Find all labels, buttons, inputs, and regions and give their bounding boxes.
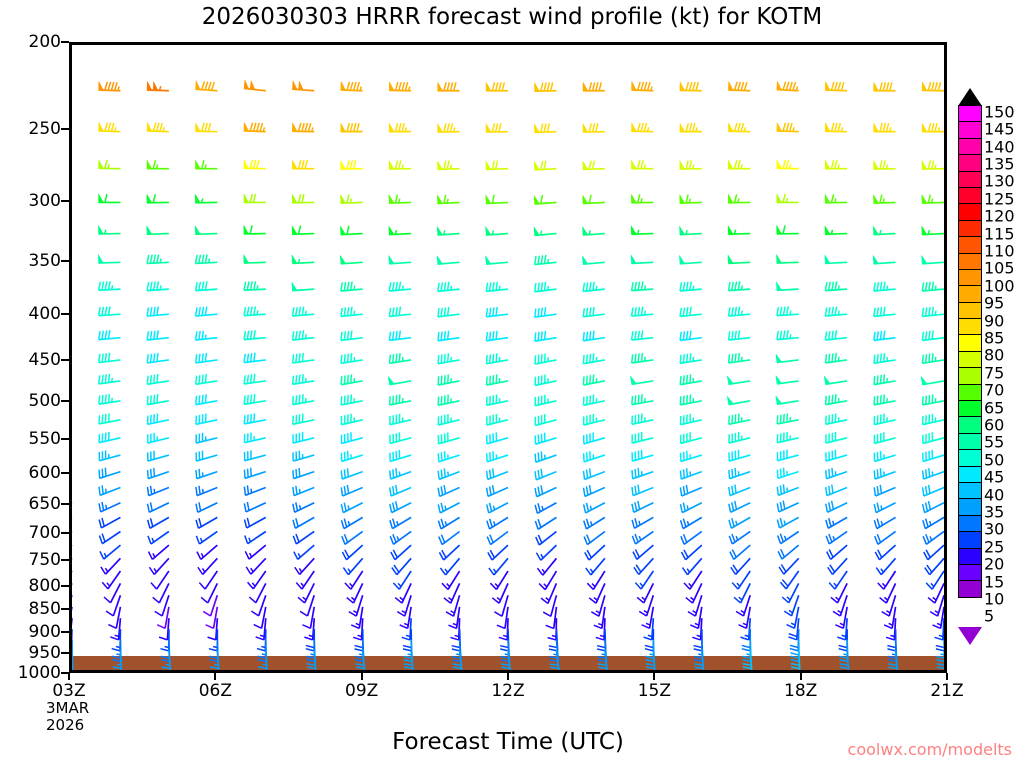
- wind-barb: [825, 255, 847, 263]
- colorbar-swatch: [958, 564, 982, 581]
- colorbar-swatch: [958, 482, 982, 499]
- wind-barb: [876, 558, 895, 574]
- colorbar-tick-label: 125: [984, 189, 1015, 208]
- wind-barb: [690, 607, 701, 629]
- wind-barb: [438, 503, 459, 513]
- x-axis-tick-label: 21Z: [930, 681, 963, 701]
- wind-barb: [148, 433, 169, 443]
- wind-barb: [389, 307, 411, 317]
- colorbar-swatch: [958, 449, 982, 466]
- wind-barb: [245, 450, 266, 460]
- wind-barb: [489, 558, 508, 575]
- wind-barb: [826, 485, 847, 496]
- wind-barb: [826, 394, 848, 404]
- wind-barb: [923, 531, 944, 544]
- y-axis-tick-label: 700: [29, 523, 61, 543]
- wind-barb: [875, 545, 895, 560]
- wind-barb: [874, 451, 895, 462]
- wind-barb: [390, 531, 411, 544]
- x-axis-tick-mark: [361, 673, 363, 680]
- wind-barb: [922, 282, 944, 291]
- wind-barb: [880, 583, 896, 603]
- colorbar-swatch: [958, 236, 982, 253]
- wind-barb: [438, 468, 459, 479]
- wind-barb: [874, 331, 896, 341]
- wind-barb: [738, 607, 750, 628]
- wind-barb: [728, 82, 750, 91]
- x-axis-tick-label: 18Z: [784, 681, 817, 701]
- wind-barb: [586, 558, 605, 575]
- y-axis-tick-label: 1000: [18, 663, 61, 683]
- wind-barb: [682, 545, 702, 560]
- wind-barb: [728, 123, 750, 132]
- wind-barb: [777, 81, 799, 91]
- wind-barb: [583, 353, 605, 363]
- x-axis-tick-label: 15Z: [638, 681, 671, 701]
- colorbar-swatch: [958, 367, 982, 384]
- y-axis-tick-label: 550: [29, 429, 61, 449]
- wind-barb: [438, 331, 460, 341]
- wind-barb: [246, 558, 266, 574]
- wind-barb: [728, 194, 750, 203]
- x-axis-tick-mark: [946, 673, 948, 680]
- wind-barb: [729, 450, 750, 461]
- wind-barb: [874, 307, 896, 317]
- wind-barb: [825, 281, 847, 290]
- colorbar-swatch: [958, 302, 982, 319]
- y-axis-tick-label: 900: [29, 622, 61, 642]
- wind-barb: [777, 413, 798, 424]
- colorbar-tick-label: 25: [984, 537, 1004, 556]
- wind-barb: [728, 281, 750, 290]
- wind-barb: [873, 195, 895, 204]
- wind-barb: [196, 414, 217, 425]
- wind-barb: [196, 307, 218, 316]
- wind-barb: [486, 282, 508, 292]
- wind-barb: [680, 394, 701, 405]
- wind-barb: [292, 160, 314, 168]
- wind-barb: [438, 123, 460, 132]
- wind-barb: [147, 353, 169, 363]
- wind-barb: [874, 468, 895, 479]
- wind-barb: [245, 545, 265, 559]
- wind-barb: [825, 82, 847, 91]
- wind-barb: [825, 307, 847, 316]
- colorbar-top-arrow: [958, 88, 982, 106]
- wind-barb: [341, 195, 363, 204]
- wind-barb: [341, 451, 362, 462]
- wind-barb: [729, 531, 750, 543]
- wind-barb: [631, 123, 653, 132]
- wind-barb: [99, 353, 121, 363]
- colorbar-labels: 1501451401351301251201151101051009590858…: [984, 88, 1024, 648]
- wind-barb: [837, 618, 847, 640]
- wind-barb: [390, 485, 411, 496]
- wind-barb: [683, 558, 702, 574]
- y-axis-tick-mark: [61, 503, 69, 505]
- wind-barb: [680, 123, 702, 131]
- wind-barb: [244, 80, 266, 91]
- wind-barb: [99, 432, 120, 443]
- date-line-1: 3MAR: [46, 700, 89, 717]
- wind-barb: [391, 545, 411, 560]
- wind-barb: [244, 374, 266, 384]
- colorbar-tick-label: 90: [984, 311, 1004, 330]
- wind-barb: [390, 414, 411, 425]
- watermark: coolwx.com/modelts: [848, 740, 1012, 759]
- wind-barb: [584, 395, 605, 406]
- wind-barb: [148, 531, 169, 543]
- colorbar-swatch: [958, 400, 982, 417]
- wind-barb: [680, 468, 701, 479]
- wind-barb: [196, 486, 217, 496]
- y-axis: 2002503003504004505005506006507007508008…: [0, 42, 69, 673]
- wind-barb: [341, 503, 362, 513]
- wind-barb: [195, 123, 217, 132]
- wind-barb: [681, 432, 702, 443]
- colorbar-tick-label: 105: [984, 259, 1015, 278]
- wind-barb: [196, 374, 218, 384]
- wind-barb: [777, 501, 798, 512]
- wind-barb: [342, 531, 363, 544]
- wind-barb: [149, 558, 168, 574]
- colorbar-swatch: [958, 171, 982, 188]
- wind-barb: [99, 82, 121, 91]
- colorbar-swatch: [958, 138, 982, 155]
- colorbar-swatch: [958, 531, 982, 548]
- wind-barb: [534, 82, 556, 91]
- wind-barb: [198, 558, 217, 574]
- wind-barb: [293, 486, 314, 496]
- wind-barb: [633, 545, 653, 559]
- wind-barb: [196, 281, 218, 290]
- wind-barb: [582, 256, 605, 264]
- wind-barb: [196, 517, 217, 528]
- wind-barb: [535, 414, 556, 425]
- wind-barb: [583, 282, 605, 292]
- wind-barb: [341, 432, 362, 443]
- wind-barb: [935, 618, 944, 640]
- wind-barb: [583, 123, 605, 132]
- wind-barb: [244, 433, 265, 443]
- wind-barb: [825, 160, 847, 168]
- wind-barb: [776, 376, 799, 384]
- colorbar-tick-label: 35: [984, 502, 1004, 521]
- wind-barb: [681, 531, 702, 544]
- colorbar-swatch: [958, 334, 982, 351]
- wind-barb: [147, 254, 169, 263]
- wind-barb: [583, 82, 605, 90]
- wind-barb: [292, 330, 314, 340]
- wind-barb: [244, 225, 266, 234]
- wind-barb: [295, 558, 314, 574]
- wind-barb: [922, 255, 944, 263]
- wind-barb: [728, 255, 750, 263]
- wind-barb: [584, 503, 605, 513]
- wind-barb: [341, 517, 362, 528]
- wind-barb: [147, 281, 169, 290]
- wind-barb: [680, 331, 702, 341]
- wind-barb: [826, 414, 847, 425]
- wind-barb: [487, 503, 508, 513]
- wind-barb: [486, 195, 508, 204]
- wind-barb: [777, 194, 799, 202]
- wind-barb: [293, 468, 314, 479]
- wind-barb: [873, 255, 895, 263]
- wind-barb: [439, 531, 460, 544]
- wind-barb: [642, 607, 654, 628]
- wind-barb: [534, 195, 556, 204]
- wind-barb: [196, 433, 217, 443]
- wind-barb: [485, 256, 508, 264]
- wind-barb: [400, 607, 411, 629]
- wind-barb: [101, 558, 121, 574]
- wind-barb: [206, 607, 218, 628]
- wind-barb: [293, 502, 314, 512]
- wind-barb: [99, 194, 121, 202]
- wind-barb: [149, 545, 169, 559]
- wind-barb: [727, 376, 750, 384]
- wind-barb: [341, 331, 363, 341]
- wind-barb: [439, 545, 459, 560]
- wind-barb: [923, 517, 944, 528]
- wind-barb: [208, 618, 218, 640]
- wind-barb: [589, 583, 605, 603]
- colorbar-tick-label: 65: [984, 398, 1004, 417]
- colorbar-tick-label: 55: [984, 433, 1004, 452]
- y-axis-tick-mark: [61, 359, 69, 361]
- x-axis-tick-mark: [653, 673, 655, 680]
- colorbar-tick-label: 30: [984, 520, 1004, 539]
- y-axis-tick-label: 350: [29, 251, 61, 271]
- wind-barb: [148, 517, 169, 528]
- y-axis-tick-label: 200: [29, 32, 61, 52]
- wind-barb: [923, 394, 944, 405]
- wind-barb: [886, 618, 895, 640]
- x-axis-tick-label: 03Z: [52, 681, 85, 701]
- colorbar-tick-label: 115: [984, 224, 1015, 243]
- x-axis-label: Forecast Time (UTC): [69, 729, 947, 755]
- wind-barb: [108, 607, 120, 628]
- wind-barb: [692, 618, 701, 640]
- wind-barb: [437, 256, 460, 264]
- y-axis-tick-mark: [61, 585, 69, 587]
- wind-barb: [583, 375, 604, 386]
- wind-barb: [487, 531, 508, 544]
- wind-barb: [729, 414, 750, 425]
- wind-barb: [727, 396, 750, 404]
- wind-barb: [487, 375, 508, 386]
- wind-barb: [789, 618, 799, 640]
- wind-barb: [632, 394, 654, 404]
- wind-barb: [825, 226, 847, 234]
- wind-barb: [438, 353, 460, 363]
- wind-barb: [583, 227, 605, 235]
- wind-barb: [534, 227, 557, 235]
- wind-barb: [632, 450, 653, 461]
- wind-barb: [740, 618, 750, 640]
- wind-barb: [680, 414, 701, 425]
- colorbar-tick-label: 95: [984, 294, 1004, 313]
- wind-barb: [631, 194, 653, 203]
- wind-barb: [729, 485, 750, 496]
- wind-barb: [546, 607, 557, 629]
- wind-barb: [99, 517, 120, 528]
- wind-barb: [874, 123, 896, 131]
- colorbar-swatch: [958, 121, 982, 138]
- wind-barb: [438, 485, 459, 496]
- y-axis-tick-mark: [61, 532, 69, 534]
- wind-barb: [632, 432, 653, 443]
- wind-barb: [924, 545, 944, 560]
- wind-barb: [535, 433, 556, 445]
- colorbar-tick-label: 70: [984, 381, 1004, 400]
- wind-barb: [632, 307, 654, 316]
- wind-barb: [486, 123, 508, 132]
- wind-barb: [351, 607, 362, 629]
- wind-barb: [632, 517, 653, 528]
- wind-barb: [583, 331, 605, 341]
- wind-barb: [835, 607, 847, 628]
- wind-barb: [630, 376, 653, 384]
- wind-barb: [679, 255, 701, 263]
- wind-barb: [342, 545, 362, 560]
- colorbar-tick-label: 140: [984, 137, 1015, 156]
- wind-barb: [874, 282, 896, 291]
- wind-barb: [680, 503, 701, 513]
- colorbar-tick-label: 75: [984, 363, 1004, 382]
- wind-barb: [99, 374, 121, 384]
- wind-barb: [341, 374, 363, 384]
- wind-barb: [340, 226, 362, 235]
- wind-barb: [147, 394, 169, 404]
- y-axis-tick-mark: [61, 472, 69, 474]
- wind-barb: [438, 307, 460, 317]
- wind-barb: [244, 194, 266, 202]
- wind-barb: [99, 450, 120, 460]
- wind-barb: [680, 226, 702, 234]
- wind-barb: [583, 307, 605, 317]
- wind-barb: [99, 502, 120, 512]
- y-axis-tick-label: 250: [29, 119, 61, 139]
- wind-barb: [729, 353, 751, 363]
- wind-barb-field: [72, 45, 944, 670]
- x-axis: 03Z06Z09Z12Z15Z18Z21Z: [69, 673, 947, 713]
- wind-barb: [686, 583, 702, 603]
- wind-barb: [777, 255, 799, 263]
- wind-barb: [244, 330, 266, 339]
- wind-barb: [341, 307, 363, 317]
- wind-barb: [388, 376, 411, 384]
- wind-barb: [244, 353, 266, 363]
- wind-barb: [438, 432, 459, 443]
- wind-barb: [293, 517, 314, 528]
- wind-barb: [438, 375, 459, 386]
- wind-barb: [874, 503, 895, 513]
- wind-barb: [728, 330, 750, 340]
- wind-barb: [148, 468, 169, 479]
- wind-barb: [777, 122, 799, 131]
- wind-barb: [728, 307, 750, 316]
- wind-barb: [680, 82, 702, 91]
- y-axis-tick-label: 300: [29, 191, 61, 211]
- wind-barb: [244, 502, 265, 512]
- wind-barb: [778, 531, 799, 543]
- y-axis-tick-label: 450: [29, 350, 61, 370]
- wind-barb: [390, 394, 411, 405]
- wind-barb: [584, 432, 605, 443]
- wind-barb: [535, 307, 557, 317]
- wind-barb: [437, 161, 459, 170]
- wind-barb: [341, 394, 362, 405]
- wind-barb: [536, 545, 556, 560]
- wind-barb: [341, 282, 363, 291]
- wind-barb: [681, 517, 702, 528]
- y-axis-tick-mark: [61, 631, 69, 633]
- wind-barb: [341, 123, 363, 131]
- wind-barb: [99, 394, 121, 404]
- wind-barb: [245, 531, 266, 543]
- colorbar-swatch: [958, 498, 982, 515]
- wind-barb: [99, 330, 121, 339]
- wind-barb: [777, 225, 799, 234]
- wind-barb: [293, 394, 315, 404]
- wind-barb: [680, 353, 702, 363]
- colorbar-swatch: [958, 154, 982, 171]
- wind-barb: [922, 331, 944, 341]
- wind-barb: [341, 160, 363, 169]
- wind-barb: [72, 650, 73, 670]
- wind-barb: [347, 583, 363, 603]
- colorbar-tick-label: 10: [984, 589, 1004, 608]
- wind-barb: [157, 607, 169, 628]
- y-axis-tick-label: 800: [29, 576, 61, 596]
- wind-barb: [585, 545, 605, 560]
- wind-barb: [486, 161, 508, 170]
- colorbar-tick-label: 5: [984, 607, 994, 626]
- wind-barb: [389, 331, 411, 341]
- colorbar-swatch: [958, 433, 982, 450]
- wind-barb: [196, 531, 217, 543]
- wind-barb: [874, 414, 895, 425]
- wind-barb: [925, 558, 944, 574]
- wind-barb: [197, 545, 217, 559]
- wind-barb: [535, 395, 556, 406]
- wind-barb: [196, 254, 218, 263]
- wind-barb: [583, 161, 605, 170]
- colorbar-swatch: [958, 416, 982, 433]
- wind-barb: [584, 517, 605, 529]
- wind-barb: [389, 195, 411, 204]
- wind-barb: [583, 195, 605, 204]
- colorbar-tick-label: 15: [984, 572, 1004, 591]
- wind-barb: [254, 607, 266, 628]
- wind-barb: [147, 122, 169, 131]
- wind-barb: [728, 160, 750, 168]
- wind-barb: [341, 485, 362, 496]
- y-axis-tick-label: 850: [29, 599, 61, 619]
- wind-barb: [487, 395, 508, 406]
- wind-barb: [923, 450, 944, 462]
- colorbar-tick-label: 135: [984, 154, 1015, 173]
- y-axis-tick-mark: [61, 400, 69, 402]
- wind-barb: [392, 558, 411, 574]
- y-axis-tick-mark: [61, 438, 69, 440]
- wind-barb: [244, 160, 266, 169]
- wind-barb: [390, 450, 411, 462]
- wind-barb: [147, 226, 169, 234]
- wind-barb: [293, 414, 314, 425]
